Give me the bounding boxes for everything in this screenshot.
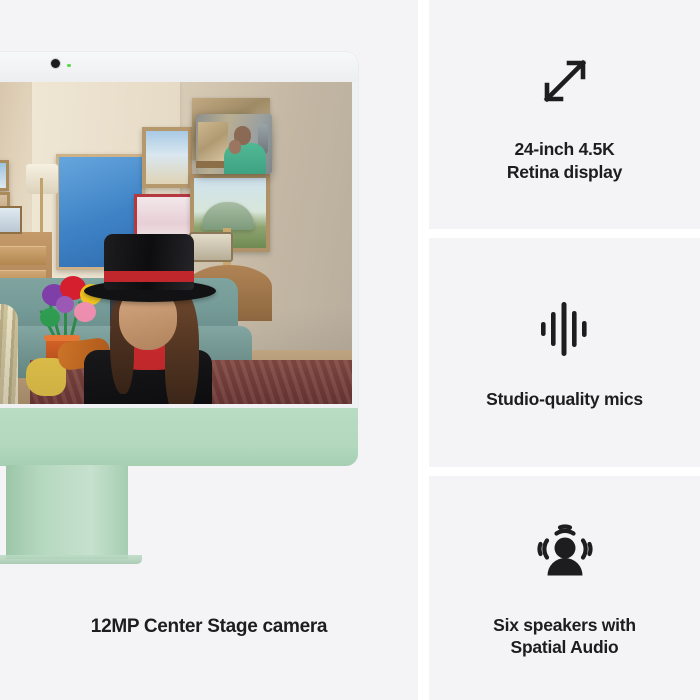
feature-card-mics[interactable]: Studio-quality mics	[429, 238, 700, 467]
feature-cards-column: 24-inch 4.5K Retina display Studio-quali…	[429, 0, 700, 700]
feature-card-speakers[interactable]: Six speakers with Spatial Audio	[429, 476, 700, 700]
center-stage-camera-icon	[51, 59, 60, 68]
imac-device-illustration	[0, 52, 358, 467]
camera-active-led-icon	[67, 64, 71, 68]
feature-card-mics-label: Studio-quality mics	[486, 388, 643, 410]
imac-stand-neck	[6, 465, 128, 559]
imac-display-frame	[0, 52, 358, 410]
feature-card-speakers-label: Six speakers with Spatial Audio	[493, 614, 636, 659]
imac-screen	[0, 82, 352, 404]
imac-stand-foot	[0, 555, 142, 564]
scene-framed-art-beach	[142, 127, 192, 188]
scene-radio	[189, 232, 233, 262]
camera-feature-caption: 12MP Center Stage camera	[0, 616, 418, 638]
feature-card-display[interactable]: 24-inch 4.5K Retina display	[429, 0, 700, 229]
audio-waveform-icon	[533, 294, 597, 364]
feature-card-display-label: 24-inch 4.5K Retina display	[507, 138, 622, 183]
product-image-panel: 12MP Center Stage camera	[0, 0, 418, 700]
scene-framed-art-small-blue	[0, 160, 9, 191]
imac-chin	[0, 408, 358, 466]
spatial-audio-person-icon	[532, 518, 598, 588]
facetime-pip-window[interactable]	[196, 114, 272, 174]
scene-photo-frame	[0, 206, 22, 234]
expand-diagonal-arrows-icon	[533, 46, 597, 116]
product-feature-page: 12MP Center Stage camera 24-inch 4.5K Re…	[0, 0, 700, 700]
